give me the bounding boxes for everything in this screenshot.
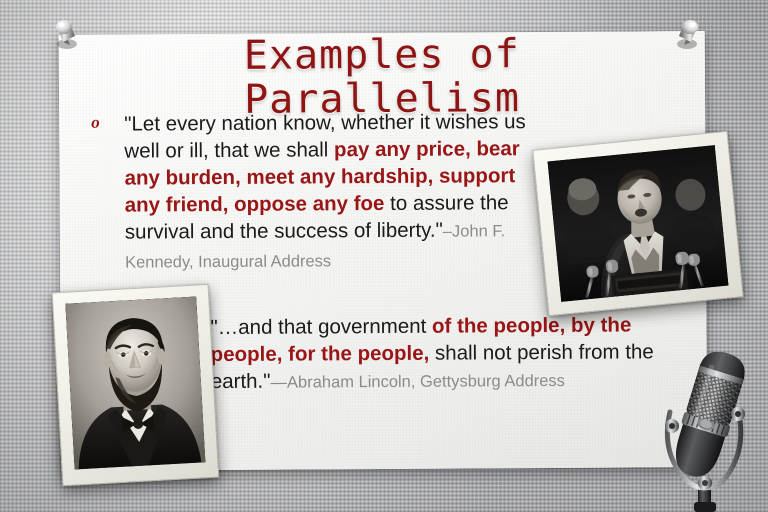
jfk-photo-frame [532,131,743,316]
pushpin-icon-right [672,18,706,58]
jfk-photo-illustration [548,145,729,302]
quote-lincoln-open: "…and that government [210,315,432,339]
microphone-icon [648,352,768,512]
bullet-glyph: o [91,113,100,133]
jfk-photo [548,145,729,302]
lincoln-photo-illustration [65,296,205,469]
pushpin-icon-left [48,18,82,58]
microphone-svg [648,352,768,512]
pushpin-right-svg [672,18,706,58]
quote-lincoln: "…and that government of the people, by … [210,311,703,397]
quote-lincoln-attribution: —Abraham Lincoln, Gettysburg Address [270,372,565,392]
slide-canvas: Examples of Parallelism o "Let every nat… [0,0,768,512]
lincoln-photo-frame [52,284,220,486]
lincoln-photo [65,296,205,469]
pushpin-left-svg [48,18,82,58]
quote-kennedy: "Let every nation know, whether it wishe… [124,108,545,277]
